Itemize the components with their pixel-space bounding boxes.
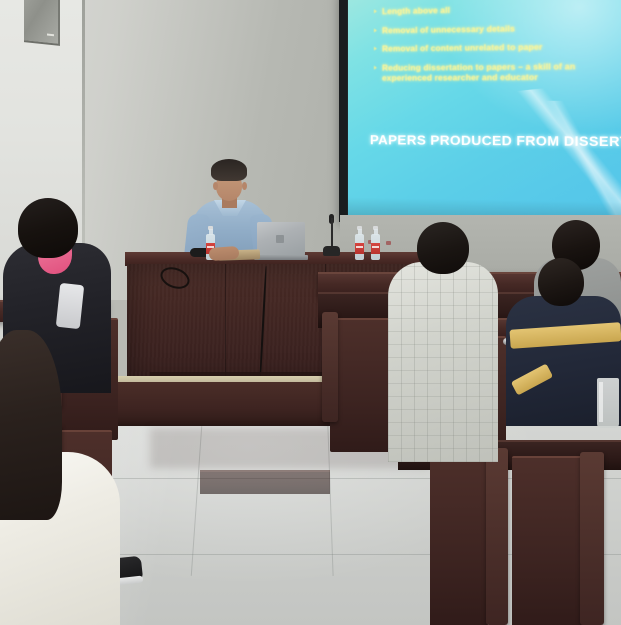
slide-bullet-2-text: Removal of unnecessary details [382,24,515,37]
presenter-ear [242,182,247,190]
bottle-label [371,243,380,254]
water-bottle [371,226,380,260]
lecture-hall-photo: Length above all Removal of unnecessary … [0,0,621,625]
audience-checkered-jacket-head [417,222,469,274]
wall-mounted-speaker [24,0,60,46]
microphone-base [323,246,340,256]
audience-left-head [18,198,78,258]
gooseneck-microphone [330,218,333,254]
seat-back-front-right-1 [430,452,488,625]
seat-armrest-right-1 [322,312,338,422]
seat-armrest-front-right [486,448,508,625]
seat-row-low-center [200,470,330,494]
seat-armrest-front-right-2 [580,452,604,625]
desk-panel-seam [225,264,226,386]
laptop-logo-icon [276,235,284,243]
bullet-triangle-icon [374,47,377,51]
audience-left-shirt-cuff [56,283,84,329]
bottle-label [355,243,364,254]
slide-bullet-list: Length above all Removal of unnecessary … [374,3,620,93]
clear-cup [597,378,619,428]
audience-navy-stripe-head [538,258,584,306]
bullet-triangle-icon [374,28,377,32]
laptop [254,222,308,260]
bullet-triangle-icon [374,65,377,69]
seat-back-front-right-2 [512,456,584,625]
microphone-stalk [331,218,333,248]
audience-checkered-jacket-body [388,262,498,462]
speaker-led [47,34,54,37]
presenter-ear [213,182,218,190]
projection-screen-frame: Length above all Removal of unnecessary … [339,0,621,229]
presenter-hair [211,159,247,181]
slide-bullet-4: Reducing dissertation to papers – a skil… [374,61,620,84]
slide-bullet-3: Removal of content unrelated to paper [374,42,620,56]
slide-title: PAPERS PRODUCED FROM DISSERTATION [370,132,621,149]
slide-bullet-4-text: Reducing dissertation to papers – a skil… [382,61,620,84]
water-bottle [355,226,364,260]
seat-back-right-1 [330,318,396,452]
foreground-long-hair [0,330,62,520]
screen-light-streak-secondary [535,101,621,217]
presenter-hands [209,246,240,261]
slide-bullet-3-text: Removal of content unrelated to paper [382,43,542,56]
slide-bullet-1-text: Length above all [382,6,450,18]
slide-bullet-1: Length above all [374,3,620,18]
bullet-triangle-icon [374,9,377,13]
wall-marker-dot [386,241,391,245]
projection-screen: Length above all Removal of unnecessary … [348,0,621,222]
slide-bullet-2: Removal of unnecessary details [374,22,620,36]
laptop-base [254,255,308,260]
